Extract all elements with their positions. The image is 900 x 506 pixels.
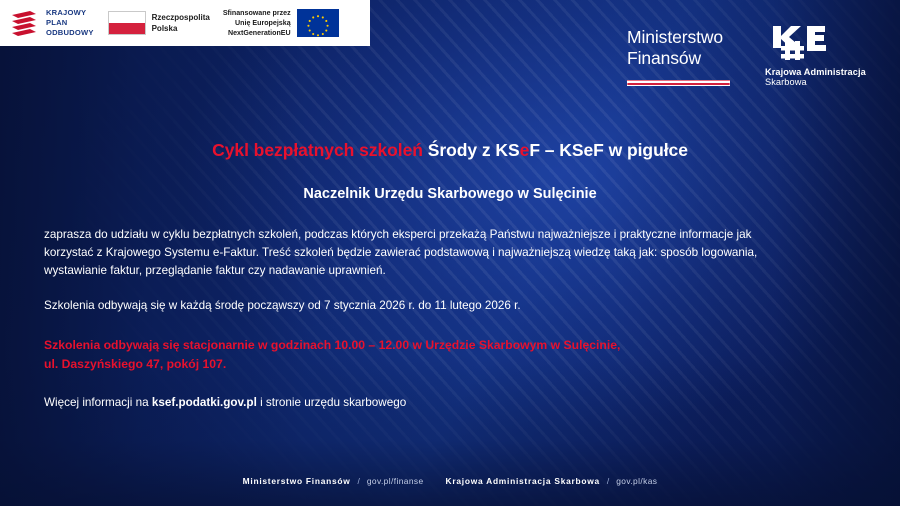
ministry-line-1: Ministerstwo: [627, 27, 730, 48]
headline-part-white-1: Środy z KS: [428, 140, 520, 160]
eu-flag-icon: [297, 9, 339, 37]
poland-flag-icon: [108, 11, 146, 35]
footer: Ministerstwo Finansów / gov.pl/finanse K…: [0, 476, 900, 486]
eu-line-2: Unię Europejską: [223, 18, 291, 28]
footer-separator: /: [358, 476, 360, 486]
kpo-line-3: ODBUDOWY: [46, 28, 94, 38]
footer-kas-url[interactable]: gov.pl/kas: [616, 476, 657, 486]
footer-ministry-url[interactable]: gov.pl/finanse: [367, 476, 424, 486]
kpo-line-2: PLAN: [46, 18, 94, 28]
more-info-prefix: Więcej informacji na: [44, 396, 152, 409]
kas-logo: Krajowa Administracja Skarbowa: [765, 24, 866, 87]
kpo-logo-text: KRAJOWY PLAN ODBUDOWY: [46, 8, 94, 38]
poland-line-1: Rzeczpospolita: [152, 12, 210, 23]
poster-slide: KRAJOWY PLAN ODBUDOWY Rzeczpospolita Pol…: [0, 0, 900, 506]
kas-line-2: Skarbowa: [765, 77, 807, 87]
eu-funding-logo: Sfinansowane przez Unię Europejską NextG…: [223, 8, 339, 38]
eu-line-3: NextGenerationEU: [223, 28, 291, 38]
eu-funding-logo-band: KRAJOWY PLAN ODBUDOWY Rzeczpospolita Pol…: [0, 0, 370, 46]
location-line-2: ul. Daszyńskiego 47, pokój 107.: [44, 355, 764, 374]
location-line-1: Szkolenia odbywają się stacjonarnie w go…: [44, 336, 764, 355]
footer-ministry-name: Ministerstwo Finansów: [243, 476, 351, 486]
poland-logo-text: Rzeczpospolita Polska: [152, 12, 210, 34]
headline-part-white-2: F – KSeF w pigułce: [529, 140, 688, 160]
page-subtitle: Naczelnik Urzędu Skarbowego w Sulęcinie: [0, 186, 900, 202]
paragraph-more-info: Więcej informacji na ksef.podatki.gov.pl…: [44, 394, 800, 412]
paragraph-intro: zaprasza do udziału w cyklu bezpłatnych …: [44, 226, 800, 279]
headline-part-red-2: e: [520, 140, 530, 160]
footer-separator: /: [607, 476, 609, 486]
page-title: Cykl bezpłatnych szkoleń Środy z KSeF – …: [0, 140, 900, 161]
kpo-stairs-icon: [10, 9, 40, 37]
paragraph-location: Szkolenia odbywają się stacjonarnie w go…: [44, 336, 764, 374]
footer-item-kas: Krajowa Administracja Skarbowa / gov.pl/…: [446, 476, 658, 486]
ksef-website-link[interactable]: ksef.podatki.gov.pl: [152, 396, 257, 409]
kas-line-1: Krajowa Administracja: [765, 67, 866, 77]
eu-logo-text: Sfinansowane przez Unię Europejską NextG…: [223, 8, 291, 38]
headline-part-red: Cykl bezpłatnych szkoleń: [212, 140, 423, 160]
paragraph-dates: Szkolenia odbywają się w każdą środę poc…: [44, 297, 800, 315]
eu-line-1: Sfinansowane przez: [223, 8, 291, 18]
ministry-line-2: Finansów: [627, 48, 730, 69]
republic-of-poland-logo: Rzeczpospolita Polska: [108, 11, 210, 35]
kpo-line-1: KRAJOWY: [46, 8, 94, 18]
footer-kas-name: Krajowa Administracja Skarbowa: [446, 476, 600, 486]
kpo-logo: KRAJOWY PLAN ODBUDOWY: [10, 8, 94, 38]
ministry-of-finance-logo: Ministerstwo Finansów: [627, 27, 730, 86]
footer-item-ministry: Ministerstwo Finansów / gov.pl/finanse: [243, 476, 424, 486]
kas-monogram-icon: [769, 24, 831, 62]
more-info-suffix: i stronie urzędu skarbowego: [257, 396, 406, 409]
poland-colors-bar-icon: [627, 80, 730, 86]
poland-line-2: Polska: [152, 23, 210, 34]
